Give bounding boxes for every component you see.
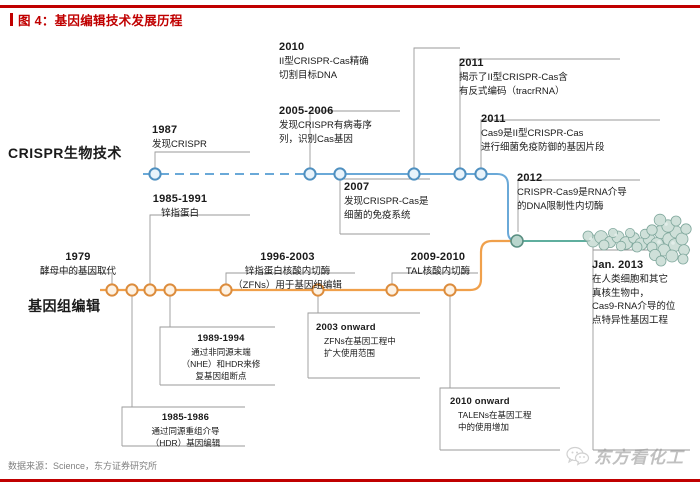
- note-year: 1996-2003: [205, 250, 370, 265]
- note-text: Cas9是II型CRISPR-Cas 进行细菌免疫防御的基因片段: [481, 127, 605, 154]
- figure-frame: 图 4：基因编辑技术发展历程: [0, 0, 700, 487]
- note-genome-1979: 1979 酵母中的基因取代: [18, 250, 138, 279]
- note-text: 在人类细胞和其它 真核生物中， Cas9-RNA介导的位 点特异性基因工程: [592, 273, 675, 327]
- top-rule: [0, 5, 700, 8]
- note-year: 2005-2006: [279, 104, 372, 119]
- note-genome-2003-onward: 2003 onward ZFNs在基因工程中 扩大使用范围: [316, 320, 396, 359]
- note-crispr-2010: 2010 II型CRISPR-Cas精确 切割目标DNA: [279, 40, 369, 82]
- note-genome-1996-2003: 1996-2003 锌指蛋白核酸内切酶 （ZFNs）用于基因组编辑: [205, 250, 370, 292]
- note-year: 2010: [279, 40, 369, 55]
- note-year: 2012: [517, 171, 627, 186]
- note-year: 2009-2010: [378, 250, 498, 265]
- note-year: 1989-1994: [166, 331, 276, 346]
- note-year: 1987: [152, 123, 207, 138]
- junction-node: [511, 235, 523, 247]
- note-genome-2009-2010: 2009-2010 TAL核酸内切酶: [378, 250, 498, 279]
- note-crispr-2011-tracrrna: 2011 揭示了II型CRISPR-Cas含 有反式编码（tracrRNA）: [459, 56, 568, 98]
- note-year: 1979: [18, 250, 138, 265]
- note-crispr-2011-cas9: 2011 Cas9是II型CRISPR-Cas 进行细菌免疫防御的基因片段: [481, 112, 605, 154]
- note-year: 1985-1986: [128, 410, 243, 425]
- note-crispr-2007: 2007 发现CRISPR-Cas是 细菌的免疫系统: [344, 180, 428, 222]
- note-year: 2007: [344, 180, 428, 195]
- figure-title-block: 图 4：基因编辑技术发展历程: [10, 10, 183, 29]
- note-text: 通过同源重组介导 （HDR）基因编辑: [128, 425, 243, 449]
- crispr-node: [149, 168, 486, 179]
- note-text: 锌指蛋白: [120, 207, 240, 221]
- note-text: 揭示了II型CRISPR-Cas含 有反式编码（tracrRNA）: [459, 71, 568, 98]
- page-title: 图 4：基因编辑技术发展历程: [18, 10, 183, 29]
- row-label-crispr: CRISPR生物技术: [8, 143, 122, 163]
- note-genome-1985-1991: 1985-1991 锌指蛋白: [120, 192, 240, 221]
- title-accent-bar: [10, 13, 13, 26]
- note-year: 2010 onward: [450, 394, 532, 409]
- note-text: 发现CRISPR-Cas是 细菌的免疫系统: [344, 195, 428, 222]
- note-crispr-2012: 2012 CRISPR-Cas9是RNA介导 的DNA限制性内切酶: [517, 171, 627, 213]
- note-text: 酵母中的基因取代: [18, 265, 138, 279]
- bottom-rule: [0, 479, 700, 482]
- note-year: Jan. 2013: [592, 258, 675, 273]
- note-year: 2011: [459, 56, 568, 71]
- note-year: 1985-1991: [120, 192, 240, 207]
- row-label-genome: 基因组编辑: [28, 296, 101, 316]
- wechat-icon: [566, 446, 590, 466]
- note-crispr-2005-2006: 2005-2006 发现CRISPR有病毒序 列，识别Cas基因: [279, 104, 372, 146]
- source-note: 数据来源：Science，东方证券研究所: [8, 459, 157, 472]
- watermark-text: 东方看化工: [594, 443, 684, 468]
- note-crispr-1987: 1987 发现CRISPR: [152, 123, 207, 152]
- note-text: ZFNs在基因工程中 扩大使用范围: [316, 335, 396, 359]
- note-genome-1989-1994: 1989-1994 通过非同源末端 （NHE）和HDR来修 复基因组断点: [166, 331, 276, 382]
- note-crispr-jan-2013: Jan. 2013 在人类细胞和其它 真核生物中， Cas9-RNA介导的位 点…: [592, 258, 675, 327]
- watermark: 东方看化工: [566, 443, 684, 468]
- note-text: CRISPR-Cas9是RNA介导 的DNA限制性内切酶: [517, 186, 627, 213]
- note-text: 发现CRISPR有病毒序 列，识别Cas基因: [279, 119, 372, 146]
- note-text: 锌指蛋白核酸内切酶 （ZFNs）用于基因组编辑: [205, 265, 370, 292]
- note-text: 通过非同源末端 （NHE）和HDR来修 复基因组断点: [166, 346, 276, 382]
- note-text: TAL核酸内切酶: [378, 265, 498, 279]
- note-text: TALENs在基因工程 中的使用增加: [450, 409, 532, 433]
- note-text: II型CRISPR-Cas精确 切割目标DNA: [279, 55, 369, 82]
- note-genome-2010-onward: 2010 onward TALENs在基因工程 中的使用增加: [450, 394, 532, 433]
- note-genome-1985-1986: 1985-1986 通过同源重组介导 （HDR）基因编辑: [128, 410, 243, 449]
- note-year: 2011: [481, 112, 605, 127]
- note-text: 发现CRISPR: [152, 138, 207, 152]
- note-year: 2003 onward: [316, 320, 396, 335]
